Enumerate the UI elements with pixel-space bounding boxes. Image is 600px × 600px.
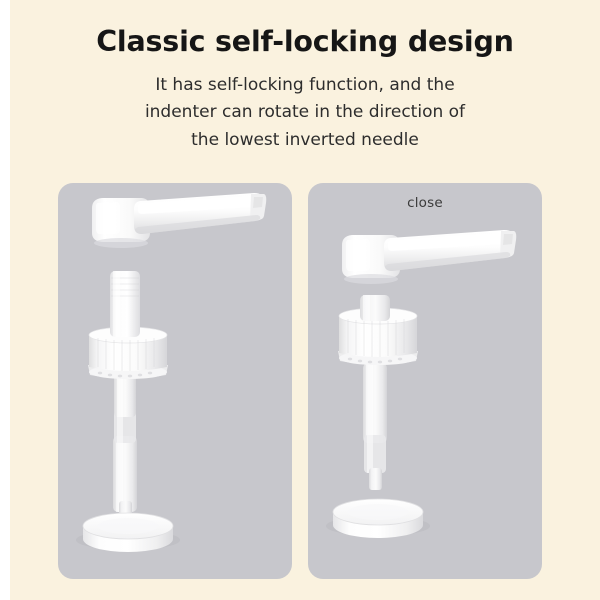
- page-subtitle: It has self-locking function, and the in…: [10, 59, 600, 155]
- pump-image-open: [58, 183, 292, 579]
- infographic-page: Classic self-locking design It has self-…: [10, 0, 600, 600]
- heading-block: Classic self-locking design It has self-…: [10, 0, 600, 154]
- subtitle-line-2: indenter can rotate in the direction of: [10, 99, 600, 127]
- pump-image-close: [308, 183, 542, 579]
- subtitle-line-3: the lowest inverted needle: [10, 127, 600, 155]
- panel-close: close: [308, 183, 542, 579]
- page-title: Classic self-locking design: [10, 0, 600, 59]
- comparison-panels: open: [58, 183, 542, 579]
- subtitle-line-1: It has self-locking function, and the: [10, 72, 600, 100]
- panel-open: open: [58, 183, 292, 579]
